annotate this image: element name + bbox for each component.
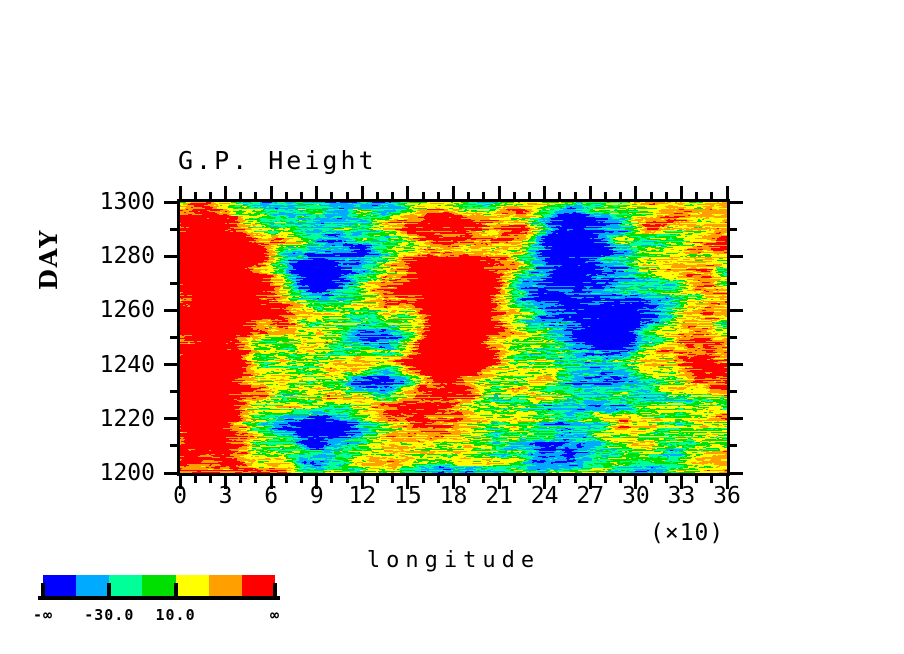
x-tick-label-18: 18 — [440, 483, 468, 509]
colorbar-tick-2 — [174, 583, 178, 600]
tick-y-left-1240 — [164, 363, 177, 366]
tick-x-bottom-7 — [285, 476, 288, 483]
x-tick-label-12: 12 — [348, 483, 376, 509]
tick-x-bottom-23 — [528, 476, 531, 483]
colorbar-label-2: 10.0 — [156, 606, 196, 624]
colorbar-strip — [43, 575, 275, 597]
tick-x-top-17 — [437, 192, 440, 199]
colorbar-baseline — [38, 596, 280, 600]
x-tick-label-0: 0 — [173, 483, 187, 509]
axis-line-left — [177, 199, 180, 476]
colorbar-tick-1 — [107, 583, 111, 600]
tick-x-top-30 — [634, 186, 637, 199]
colorbar-label-0: -∞ — [33, 606, 53, 624]
heatmap-canvas — [180, 202, 727, 473]
colorbar-segment-green — [142, 575, 175, 597]
x-tick-label-15: 15 — [394, 483, 422, 509]
tick-y-left-1280 — [164, 255, 177, 258]
tick-y-right-1290 — [730, 228, 737, 231]
tick-x-bottom-11 — [346, 476, 349, 483]
colorbar-segment-yellow — [176, 575, 209, 597]
tick-x-top-35 — [710, 192, 713, 199]
tick-x-bottom-13 — [376, 476, 379, 483]
tick-x-top-26 — [574, 192, 577, 199]
tick-x-bottom-29 — [619, 476, 622, 483]
tick-x-top-0 — [179, 186, 182, 199]
tick-y-right-1230 — [730, 390, 737, 393]
tick-y-right-1210 — [730, 444, 737, 447]
tick-x-bottom-31 — [650, 476, 653, 483]
tick-x-top-12 — [361, 186, 364, 199]
tick-x-top-10 — [330, 192, 333, 199]
tick-x-top-4 — [239, 192, 242, 199]
tick-x-bottom-5 — [254, 476, 257, 483]
y-tick-label-1260: 1260 — [0, 297, 155, 323]
tick-y-left-1300 — [164, 201, 177, 204]
tick-y-right-1240 — [730, 363, 743, 366]
colorbar-tick-3 — [273, 583, 277, 600]
tick-x-bottom-28 — [604, 476, 607, 483]
x-tick-label-3: 3 — [219, 483, 233, 509]
x-tick-label-6: 6 — [264, 483, 278, 509]
y-tick-label-1300: 1300 — [0, 189, 155, 215]
colorbar-segment-light-blue — [76, 575, 109, 597]
tick-x-top-18 — [452, 186, 455, 199]
colorbar-segment-orange — [209, 575, 242, 597]
tick-x-top-1 — [194, 192, 197, 199]
tick-y-left-1260 — [164, 309, 177, 312]
tick-y-right-1220 — [730, 417, 743, 420]
tick-x-bottom-25 — [558, 476, 561, 483]
tick-y-right-1300 — [730, 201, 743, 204]
tick-x-top-32 — [665, 192, 668, 199]
x-tick-label-21: 21 — [485, 483, 513, 509]
tick-x-bottom-2 — [209, 476, 212, 483]
tick-y-right-1270 — [730, 282, 737, 285]
x-tick-label-27: 27 — [576, 483, 604, 509]
tick-x-bottom-4 — [239, 476, 242, 483]
tick-x-top-29 — [619, 192, 622, 199]
tick-x-top-9 — [315, 186, 318, 199]
tick-x-top-6 — [270, 186, 273, 199]
tick-x-top-16 — [422, 192, 425, 199]
y-tick-label-1200: 1200 — [0, 460, 155, 486]
colorbar-label-1: -30.0 — [84, 606, 134, 624]
tick-x-bottom-32 — [665, 476, 668, 483]
tick-x-bottom-26 — [574, 476, 577, 483]
tick-x-bottom-20 — [482, 476, 485, 483]
tick-x-top-27 — [589, 186, 592, 199]
tick-x-top-11 — [346, 192, 349, 199]
tick-x-top-7 — [285, 192, 288, 199]
tick-x-top-31 — [650, 192, 653, 199]
tick-x-bottom-35 — [710, 476, 713, 483]
tick-y-left-1200 — [164, 472, 177, 475]
tick-x-top-24 — [543, 186, 546, 199]
tick-y-left-1290 — [170, 228, 177, 231]
y-tick-label-1240: 1240 — [0, 352, 155, 378]
x-tick-label-33: 33 — [668, 483, 696, 509]
tick-x-top-25 — [558, 192, 561, 199]
y-tick-label-1220: 1220 — [0, 406, 155, 432]
axis-line-top — [177, 199, 730, 202]
tick-x-top-33 — [680, 186, 683, 199]
tick-x-top-8 — [300, 192, 303, 199]
tick-x-top-15 — [406, 186, 409, 199]
y-axis-title: DAY — [34, 229, 63, 290]
heatmap-plot-area — [180, 202, 727, 473]
x-axis-title: longitude — [180, 548, 727, 573]
tick-x-top-34 — [695, 192, 698, 199]
tick-y-right-1280 — [730, 255, 743, 258]
tick-x-bottom-1 — [194, 476, 197, 483]
tick-x-top-2 — [209, 192, 212, 199]
tick-x-top-3 — [224, 186, 227, 199]
colorbar-label-3: ∞ — [270, 606, 280, 624]
tick-y-left-1210 — [170, 444, 177, 447]
tick-x-top-20 — [482, 192, 485, 199]
tick-x-bottom-14 — [391, 476, 394, 483]
tick-x-bottom-8 — [300, 476, 303, 483]
colorbar-segment-red — [242, 575, 275, 597]
x-tick-label-30: 30 — [622, 483, 650, 509]
tick-y-right-1250 — [730, 336, 737, 339]
tick-y-right-1200 — [730, 472, 743, 475]
x-tick-label-9: 9 — [310, 483, 324, 509]
tick-x-top-5 — [254, 192, 257, 199]
tick-x-bottom-19 — [467, 476, 470, 483]
x-axis-multiplier-label: (×10) — [650, 520, 724, 546]
tick-y-left-1230 — [170, 390, 177, 393]
tick-x-top-21 — [498, 186, 501, 199]
tick-x-top-14 — [391, 192, 394, 199]
tick-x-top-13 — [376, 192, 379, 199]
page-title: G.P. Height — [178, 146, 377, 175]
tick-x-bottom-22 — [513, 476, 516, 483]
tick-y-right-1260 — [730, 309, 743, 312]
x-tick-label-24: 24 — [531, 483, 559, 509]
tick-x-top-23 — [528, 192, 531, 199]
colorbar-segment-spring-green — [109, 575, 142, 597]
tick-x-bottom-34 — [695, 476, 698, 483]
tick-y-left-1220 — [164, 417, 177, 420]
tick-y-left-1270 — [170, 282, 177, 285]
tick-x-bottom-16 — [422, 476, 425, 483]
y-tick-label-1280: 1280 — [0, 243, 155, 269]
tick-x-bottom-17 — [437, 476, 440, 483]
x-tick-label-36: 36 — [713, 483, 741, 509]
tick-x-top-36 — [726, 186, 729, 199]
colorbar — [43, 575, 275, 601]
tick-x-top-28 — [604, 192, 607, 199]
tick-y-left-1250 — [170, 336, 177, 339]
tick-x-bottom-10 — [330, 476, 333, 483]
tick-x-top-19 — [467, 192, 470, 199]
colorbar-tick-0 — [41, 583, 45, 600]
colorbar-segment-blue — [43, 575, 76, 597]
tick-x-top-22 — [513, 192, 516, 199]
